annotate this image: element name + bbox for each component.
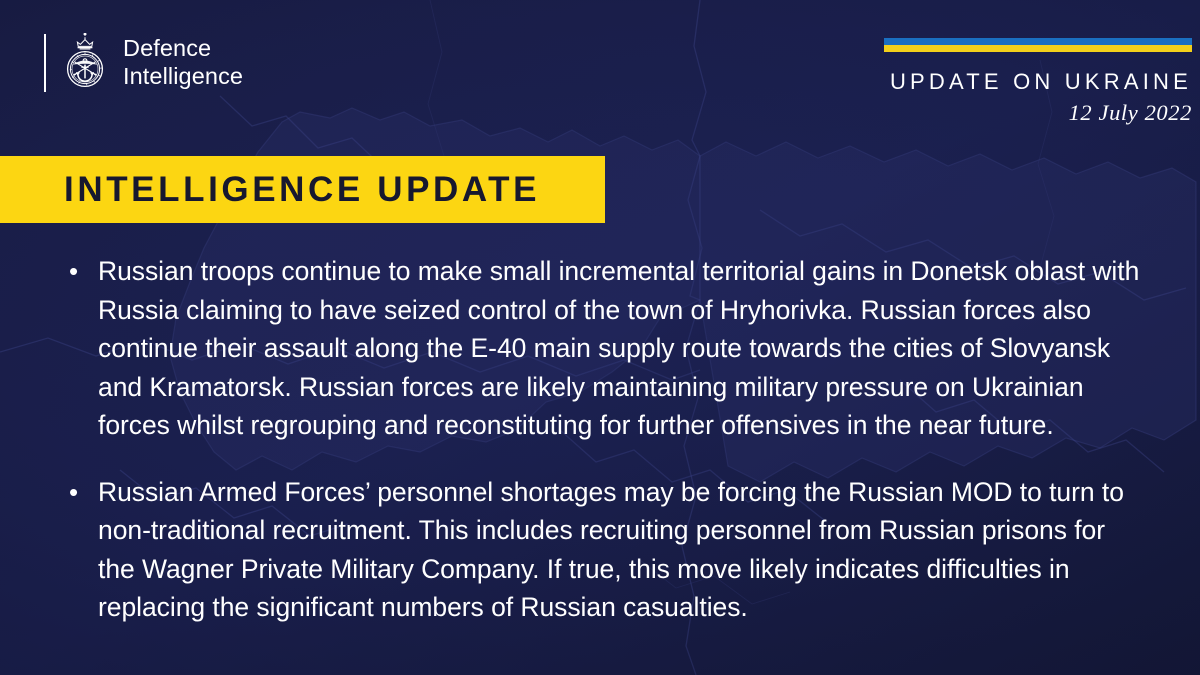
brand-name: Defence Intelligence bbox=[123, 35, 243, 90]
bullet-list: • Russian troops continue to make small … bbox=[66, 252, 1148, 627]
bullet-glyph: • bbox=[66, 473, 98, 512]
header: Defence Intelligence UPDATE ON UKRAINE 1… bbox=[0, 0, 1200, 150]
list-item: • Russian Armed Forces’ personnel shorta… bbox=[66, 473, 1148, 627]
publication-date: 12 July 2022 bbox=[884, 100, 1192, 126]
ukraine-flag-bar bbox=[884, 38, 1192, 52]
flag-stripe-blue bbox=[884, 38, 1192, 45]
update-on-ukraine-label: UPDATE ON UKRAINE bbox=[884, 70, 1192, 94]
intelligence-update-poster: Defence Intelligence UPDATE ON UKRAINE 1… bbox=[0, 0, 1200, 675]
brand-line-defence: Defence bbox=[123, 35, 243, 63]
list-item: • Russian troops continue to make small … bbox=[66, 252, 1148, 445]
bullet-glyph: • bbox=[66, 252, 98, 291]
mod-tri-service-crest-icon bbox=[59, 33, 111, 93]
flag-stripe-yellow bbox=[884, 45, 1192, 52]
bullet-paragraph-2: Russian Armed Forces’ personnel shortage… bbox=[98, 473, 1148, 627]
intelligence-update-banner: INTELLIGENCE UPDATE bbox=[0, 156, 605, 223]
header-right-block: UPDATE ON UKRAINE 12 July 2022 bbox=[884, 38, 1192, 126]
brand-divider-rule bbox=[44, 34, 46, 92]
brand-line-intelligence: Intelligence bbox=[123, 63, 243, 91]
banner-title: INTELLIGENCE UPDATE bbox=[0, 170, 540, 210]
brand-lockup: Defence Intelligence bbox=[44, 33, 243, 93]
bullet-paragraph-1: Russian troops continue to make small in… bbox=[98, 252, 1148, 445]
